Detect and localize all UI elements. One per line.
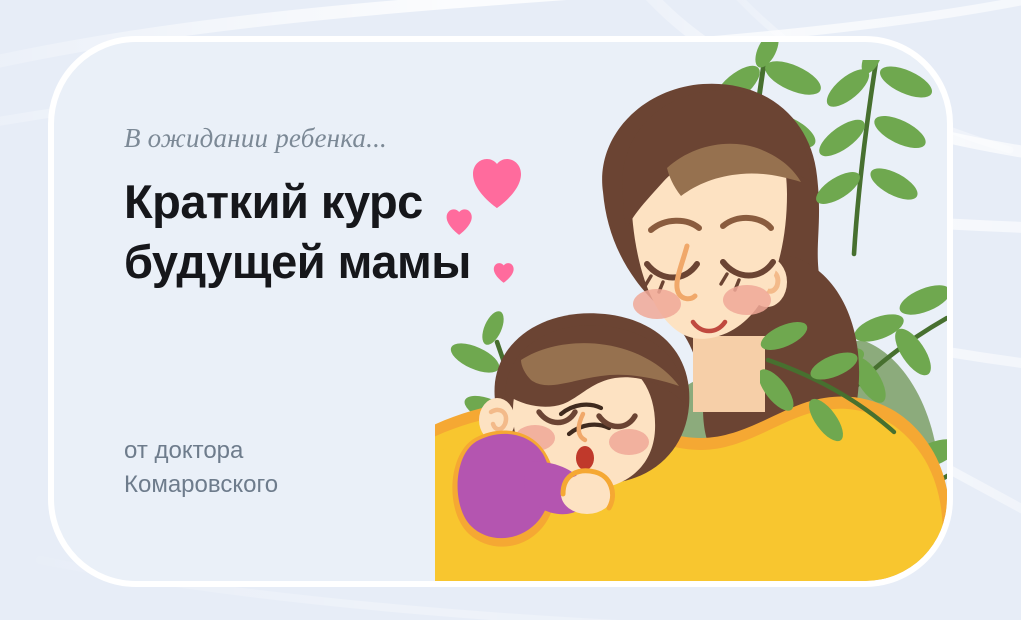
baby-mouth: [576, 446, 594, 470]
eyebrow-text: В ожидании ребенка...: [124, 124, 544, 154]
headline-line-2: будущей мамы: [124, 232, 544, 292]
byline-line-1: от доктора: [124, 434, 454, 468]
byline: от доктора Комаровского: [124, 434, 454, 502]
card-inner: В ожидании ребенка... Краткий курс будущ…: [54, 42, 947, 581]
mother-cheek-left: [633, 289, 681, 319]
mother-neck: [693, 336, 765, 412]
page-title: Краткий курс будущей мамы: [124, 172, 544, 292]
card-text-block: В ожидании ребенка... Краткий курс будущ…: [124, 124, 544, 292]
course-card: В ожидании ребенка... Краткий курс будущ…: [48, 36, 953, 587]
banner-canvas: В ожидании ребенка... Краткий курс будущ…: [0, 0, 1021, 620]
mother-cheek-right: [723, 285, 771, 315]
baby-cheek-right: [609, 429, 649, 455]
mother-baby-illustration: [435, 42, 947, 581]
headline-line-1: Краткий курс: [124, 172, 544, 232]
byline-line-2: Комаровского: [124, 468, 454, 502]
